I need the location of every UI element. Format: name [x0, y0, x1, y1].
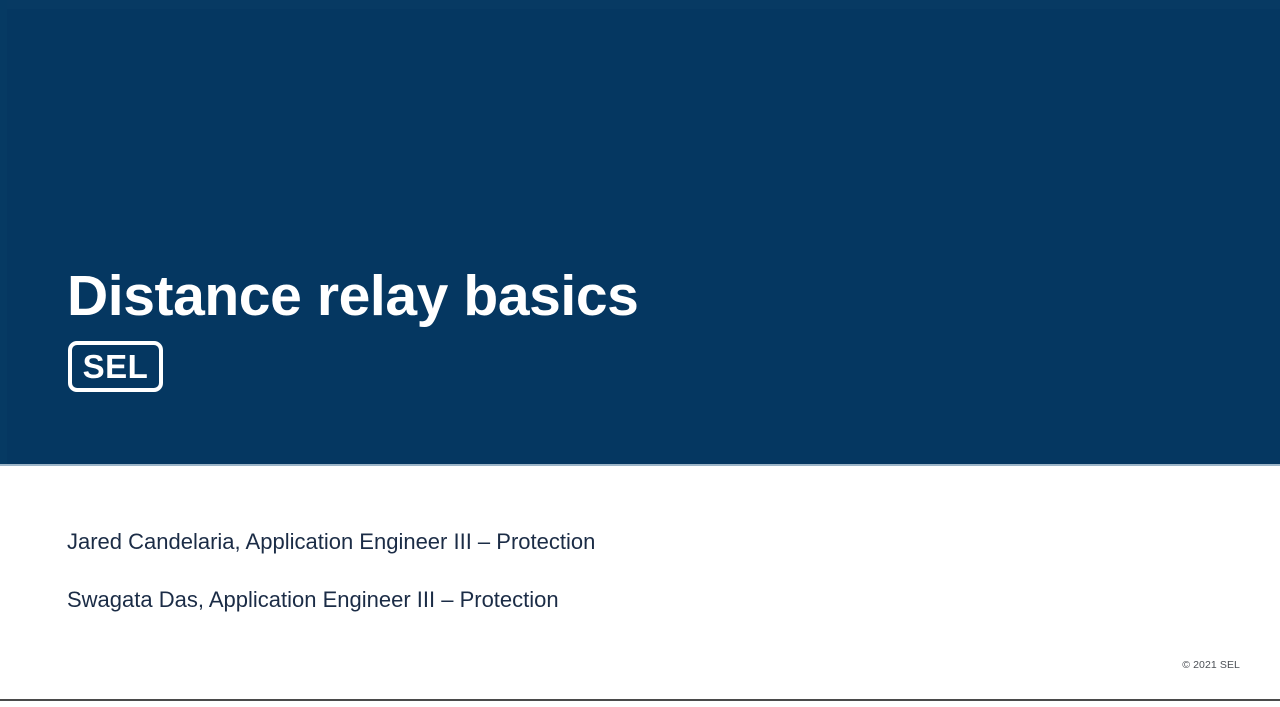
- banner-left-shade: [0, 0, 7, 464]
- title-banner: [0, 0, 1280, 464]
- banner-underline: [0, 464, 1280, 466]
- presenter-line: Jared Candelaria, Application Engineer I…: [67, 531, 967, 553]
- slide-canvas: Distance relay basics SEL Jared Candelar…: [0, 0, 1280, 707]
- presenter-line: Swagata Das, Application Engineer III – …: [67, 589, 967, 611]
- sel-logo: SEL: [68, 341, 163, 392]
- copyright-notice: © 2021 SEL: [1182, 659, 1240, 671]
- bottom-margin: [0, 701, 1280, 707]
- sel-logo-text: SEL: [83, 350, 149, 383]
- page-title: Distance relay basics: [67, 267, 638, 327]
- banner-top-shade: [0, 0, 1280, 9]
- presenter-list: Jared Candelaria, Application Engineer I…: [67, 531, 967, 611]
